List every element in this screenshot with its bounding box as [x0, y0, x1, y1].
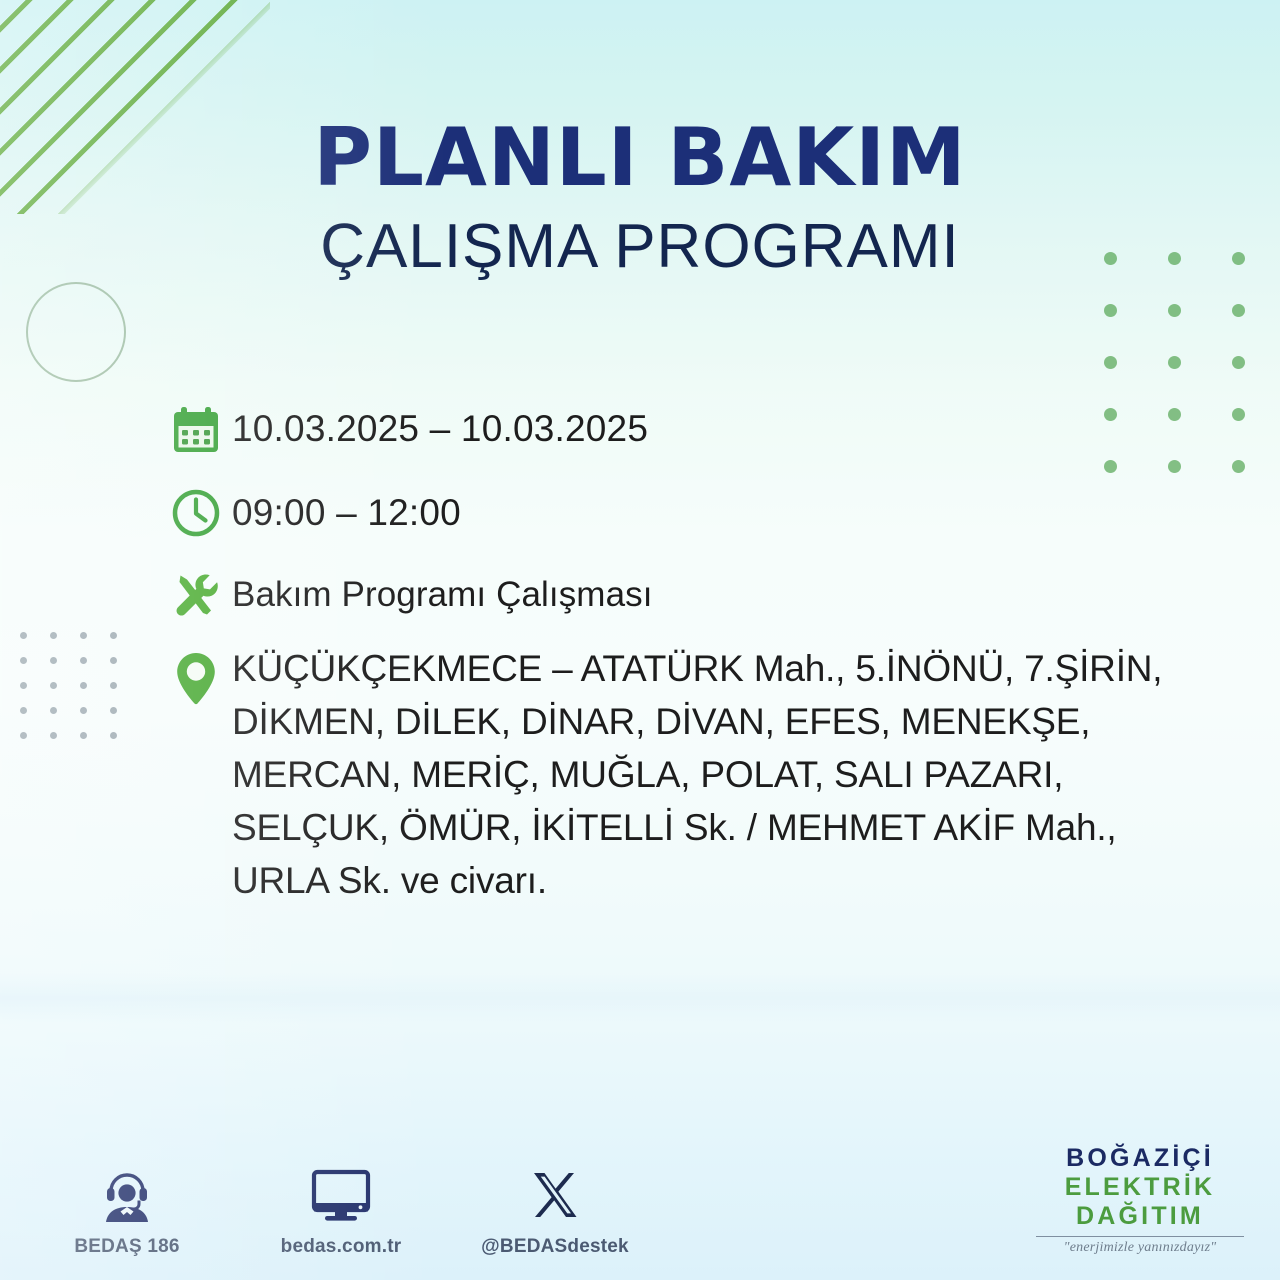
dot: [80, 632, 87, 639]
dot: [80, 682, 87, 689]
contact-label: @BEDASdestek: [480, 1236, 630, 1258]
location-text: KÜÇÜKÇEKMECE – ATATÜRK Mah., 5.İNÖNÜ, 7.…: [232, 642, 1187, 907]
dot: [110, 657, 117, 664]
dot: [1232, 304, 1245, 317]
date-range-text: 10.03.2025 – 10.03.2025: [232, 398, 1260, 460]
calendar-icon: [170, 398, 232, 460]
contact-x-social[interactable]: @BEDASdestek: [480, 1165, 630, 1258]
outage-info-list: 10.03.2025 – 10.03.2025 09:00 – 12:00: [170, 398, 1260, 925]
contact-label: bedas.com.tr: [266, 1236, 416, 1258]
poster-header: PLANLI BAKIM ÇALIŞMA PROGRAMI: [0, 118, 1280, 278]
map-pin-icon: [170, 642, 232, 710]
circle-outline-decoration: [26, 282, 126, 382]
dot: [110, 707, 117, 714]
headset-operator-icon: [52, 1165, 202, 1225]
work-type-text: Bakım Programı Çalışması: [232, 564, 1260, 626]
dot: [20, 707, 27, 714]
dot: [50, 657, 57, 664]
time-range-text: 09:00 – 12:00: [232, 482, 1260, 544]
page-subtitle: ÇALIŞMA PROGRAMI: [0, 216, 1280, 278]
brand-line-3: DAĞITIM: [1030, 1202, 1250, 1231]
dot: [50, 682, 57, 689]
dot: [1104, 356, 1117, 369]
dot: [50, 632, 57, 639]
contact-website[interactable]: bedas.com.tr: [266, 1165, 416, 1258]
brand-line-2: ELEKTRİK: [1030, 1173, 1250, 1202]
dot: [110, 682, 117, 689]
dot: [80, 732, 87, 739]
dot: [20, 682, 27, 689]
dot: [80, 707, 87, 714]
dot: [1232, 356, 1245, 369]
brand-divider: [1036, 1236, 1244, 1237]
dot: [1168, 356, 1181, 369]
page-title: PLANLI BAKIM: [0, 118, 1280, 198]
contact-label: BEDAŞ 186: [52, 1236, 202, 1258]
footer-contacts: BEDAŞ 186 bedas.com.tr @BEDASdestek: [52, 1165, 630, 1258]
x-twitter-icon: [480, 1165, 630, 1225]
dot: [1168, 304, 1181, 317]
info-row-work-type: Bakım Programı Çalışması: [170, 564, 1260, 626]
poster-canvas: PLANLI BAKIM ÇALIŞMA PROGRAMI: [0, 0, 1280, 1280]
dot: [1104, 304, 1117, 317]
dot: [110, 632, 117, 639]
dot: [20, 657, 27, 664]
clock-icon: [170, 482, 232, 544]
info-row-location: KÜÇÜKÇEKMECE – ATATÜRK Mah., 5.İNÖNÜ, 7.…: [170, 642, 1260, 907]
brand-tagline: "enerjimizle yanınızdayız": [1030, 1240, 1250, 1256]
tools-icon: [170, 564, 232, 626]
info-row-date: 10.03.2025 – 10.03.2025: [170, 398, 1260, 460]
dot: [80, 657, 87, 664]
contact-call-center[interactable]: BEDAŞ 186: [52, 1165, 202, 1258]
dot: [20, 732, 27, 739]
dot-grid-left-decoration: [20, 632, 140, 757]
brand-logo: BOĞAZİÇİ ELEKTRİK DAĞITIM "enerjimizle y…: [1030, 1144, 1250, 1256]
monitor-icon: [266, 1165, 416, 1225]
dot: [50, 707, 57, 714]
dot: [50, 732, 57, 739]
dot: [20, 632, 27, 639]
info-row-time: 09:00 – 12:00: [170, 482, 1260, 544]
dot: [110, 732, 117, 739]
brand-line-1: BOĞAZİÇİ: [1030, 1144, 1250, 1173]
